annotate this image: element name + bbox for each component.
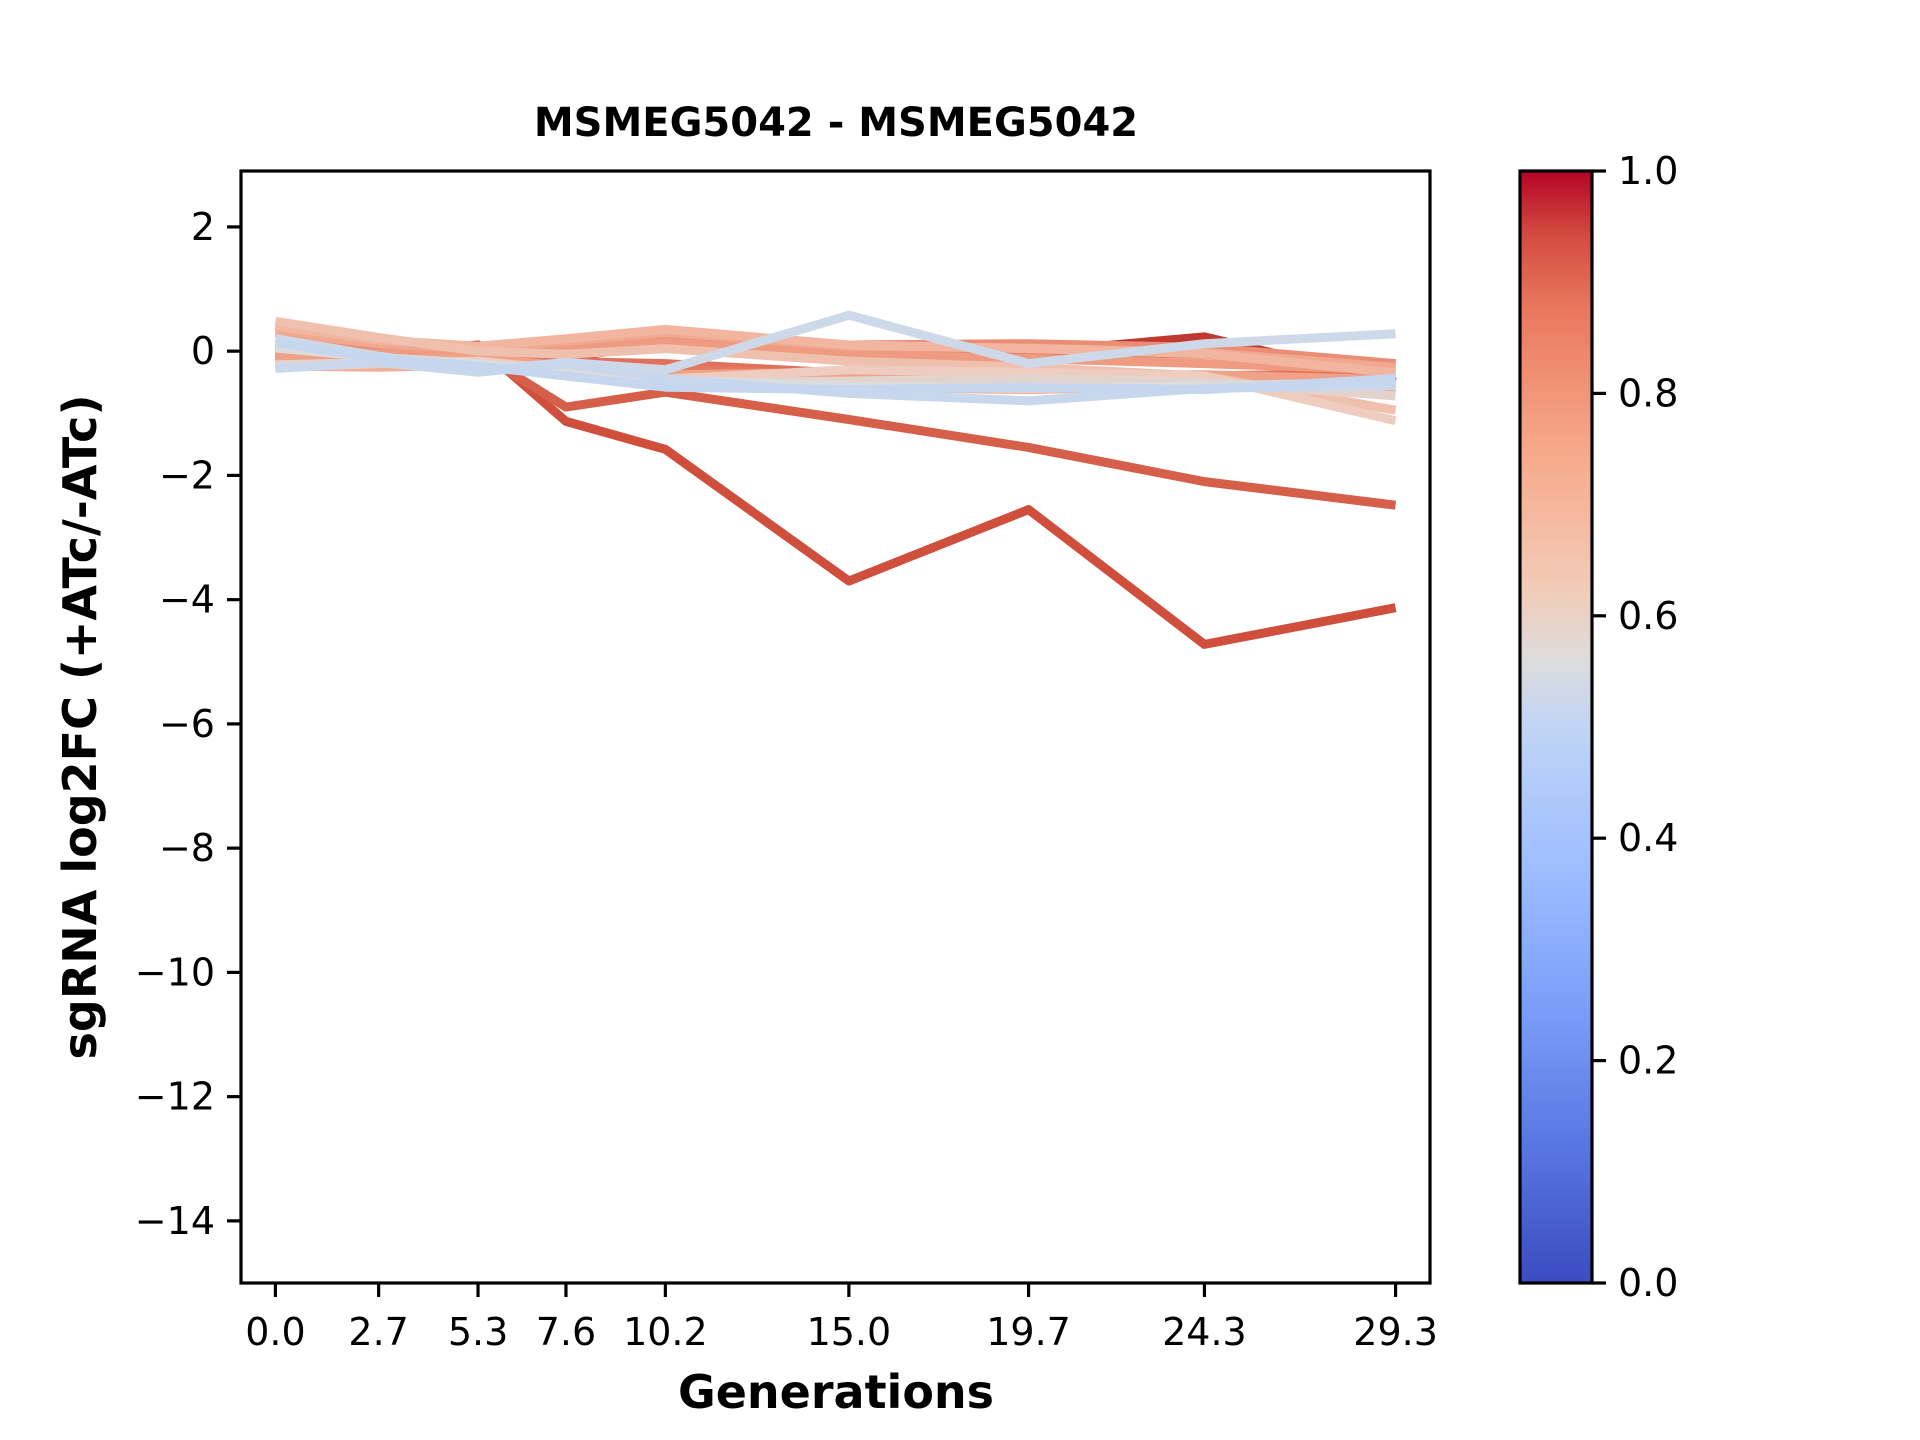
- y-tick-label: 0: [191, 329, 215, 373]
- colorbar-tick-label: 0.8: [1618, 371, 1678, 415]
- x-tick-label: 0.0: [245, 1310, 305, 1354]
- y-axis-title: sgRNA log2FC (+ATc/-ATc): [53, 395, 107, 1060]
- colorbar-tick-label: 0.2: [1618, 1039, 1678, 1083]
- y-axis-ticks: 20−2−4−6−8−10−12−14: [135, 205, 241, 1243]
- x-tick-label: 24.3: [1162, 1310, 1247, 1354]
- figure-canvas: 0.02.75.37.610.215.019.724.329.3 20−2−4−…: [0, 0, 1920, 1440]
- y-tick-label: −12: [135, 1075, 215, 1119]
- x-tick-label: 15.0: [807, 1310, 892, 1354]
- colorbar-tick-label: 0.4: [1618, 816, 1678, 860]
- x-tick-label: 2.7: [348, 1310, 408, 1354]
- x-tick-label: 5.3: [448, 1310, 508, 1354]
- colorbar-tick-label: 1.0: [1618, 149, 1678, 193]
- y-tick-label: −6: [159, 702, 215, 746]
- y-tick-label: −14: [135, 1199, 215, 1243]
- colorbar-gradient: [1520, 171, 1592, 1283]
- colorbar-ticks: 0.00.20.40.60.81.0: [1592, 149, 1678, 1305]
- y-tick-label: −2: [159, 453, 215, 497]
- line-chart: 0.02.75.37.610.215.019.724.329.3 20−2−4−…: [0, 0, 1920, 1440]
- chart-title: MSMEG5042 - MSMEG5042: [534, 100, 1138, 146]
- y-tick-label: 2: [191, 205, 215, 249]
- x-tick-label: 7.6: [536, 1310, 596, 1354]
- y-tick-label: −4: [159, 578, 215, 622]
- colorbar-tick-label: 0.6: [1618, 594, 1678, 638]
- x-tick-label: 29.3: [1353, 1310, 1438, 1354]
- colorbar-tick-label: 0.0: [1618, 1261, 1678, 1305]
- y-tick-label: −8: [159, 826, 215, 870]
- x-axis-title: Generations: [678, 1365, 994, 1419]
- x-tick-label: 10.2: [623, 1310, 708, 1354]
- x-tick-label: 19.7: [986, 1310, 1071, 1354]
- x-axis-ticks: 0.02.75.37.610.215.019.724.329.3: [245, 1283, 1438, 1354]
- colorbar: 0.00.20.40.60.81.0: [1520, 149, 1678, 1305]
- y-tick-label: −10: [135, 950, 215, 994]
